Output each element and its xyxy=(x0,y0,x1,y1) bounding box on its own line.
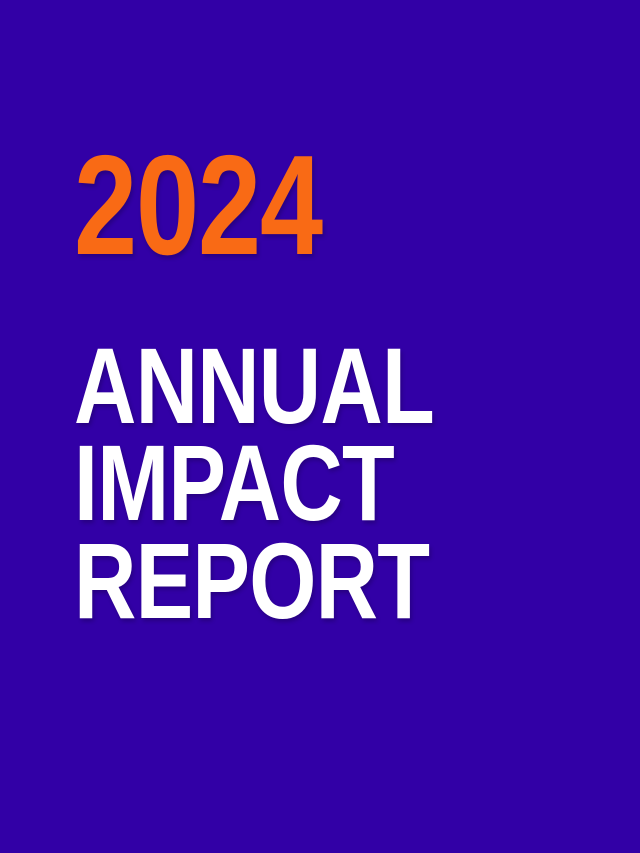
cover-text-block: 2024 ANNUAL IMPACT REPORT xyxy=(74,136,574,629)
cover-title-line-2: IMPACT xyxy=(74,434,474,531)
cover-year: 2024 xyxy=(74,136,474,275)
cover-title-line-3: REPORT xyxy=(74,532,474,629)
report-cover-poster: 2024 ANNUAL IMPACT REPORT xyxy=(0,0,640,853)
cover-title-line-1: ANNUAL xyxy=(74,337,474,434)
cover-title-group: ANNUAL IMPACT REPORT xyxy=(74,337,574,629)
